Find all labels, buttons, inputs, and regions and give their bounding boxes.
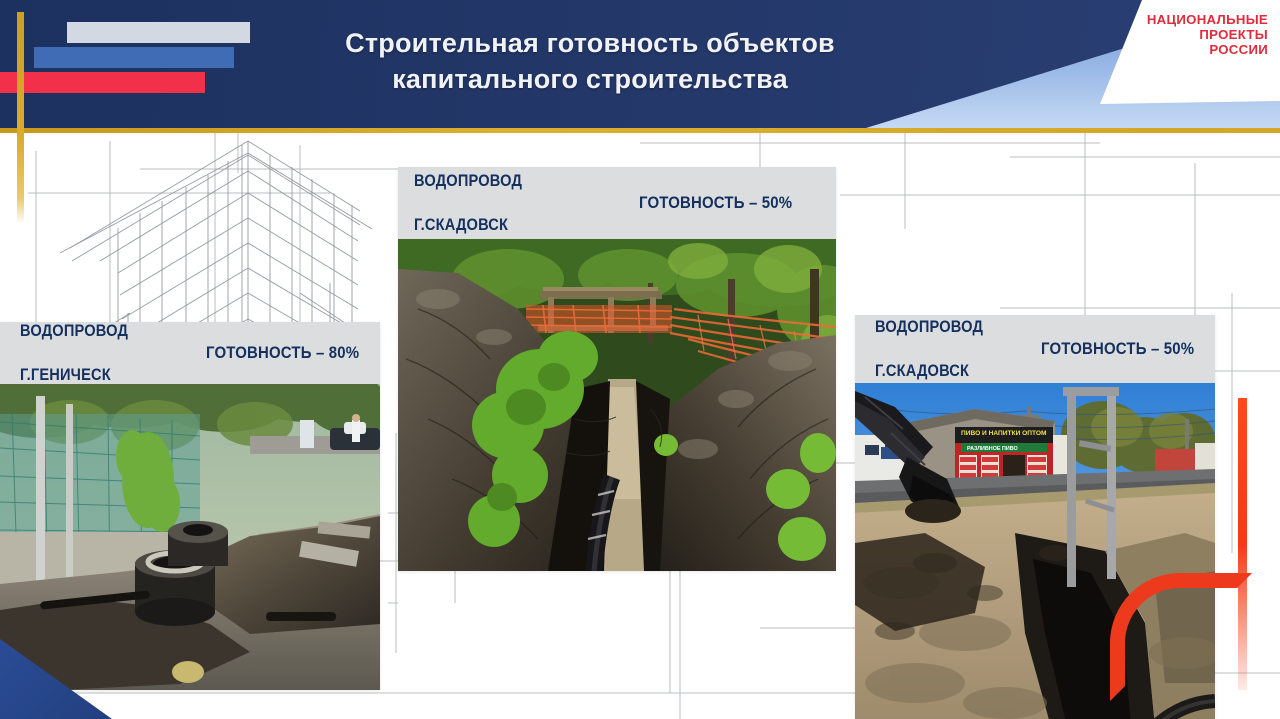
slide: Строительная готовность объектов капитал… — [0, 0, 1280, 719]
readiness-badge: ГОТОВНОСТЬ – 50% — [639, 193, 792, 213]
logo-text: НАЦИОНАЛЬНЫЕ ПРОЕКТЫ РОССИИ — [1147, 13, 1268, 57]
photo-genichesk-trench — [0, 384, 380, 690]
photo-card-skadovsk-trench: ВОДОПРОВОД Г.СКАДОВСК ГОТОВНОСТЬ – 50% — [398, 167, 836, 571]
flag-bar-red — [0, 72, 205, 93]
card-caption: ВОДОПРОВОД Г.СКАДОВСК ГОТОВНОСТЬ – 50% — [398, 167, 836, 239]
logo-text-line-1: НАЦИОНАЛЬНЫЕ — [1147, 13, 1268, 28]
readiness-badge: ГОТОВНОСТЬ – 50% — [1041, 339, 1194, 359]
card-object-line-2: Г.ГЕНИЧЕСК — [20, 364, 185, 386]
card-caption: ВОДОПРОВОД Г.СКАДОВСК ГОТОВНОСТЬ – 50% — [855, 315, 1215, 383]
photo-card-genichesk: ВОДОПРОВОД Г.ГЕНИЧЕСК ГОТОВНОСТЬ – 80% — [0, 322, 380, 690]
svg-text:РАЗЛИВНОЕ ПИВО: РАЗЛИВНОЕ ПИВО — [967, 446, 1018, 452]
flag-bar-blue — [34, 47, 234, 68]
logo-text-line-2: ПРОЕКТЫ — [1147, 28, 1268, 43]
gold-vertical-accent — [17, 12, 24, 224]
card-object-line-2: Г.СКАДОВСК — [414, 214, 616, 236]
svg-text:ПИВО И НАПИТКИ ОПТОМ: ПИВО И НАПИТКИ ОПТОМ — [961, 430, 1047, 437]
logo-text-line-3: РОССИИ — [1147, 43, 1268, 58]
national-projects-logo: НАЦИОНАЛЬНЫЕ ПРОЕКТЫ РОССИИ — [1098, 0, 1280, 133]
page-title-line-2: капитального строительства — [270, 62, 910, 98]
card-caption: ВОДОПРОВОД Г.ГЕНИЧЕСК ГОТОВНОСТЬ – 80% — [0, 322, 380, 384]
russian-flag-bars — [0, 22, 300, 94]
card-object-line-1: ВОДОПРОВОД — [20, 320, 185, 342]
page-title: Строительная готовность объектов капитал… — [270, 26, 910, 97]
card-object-line-2: Г.СКАДОВСК — [875, 360, 1024, 382]
construction-photo — [0, 384, 380, 690]
slide-header: Строительная готовность объектов капитал… — [0, 0, 1280, 133]
card-object-line-1: ВОДОПРОВОД — [875, 316, 1024, 338]
card-object-line-1: ВОДОПРОВОД — [414, 170, 616, 192]
page-title-line-1: Строительная готовность объектов — [270, 26, 910, 62]
corner-decoration-red-arc — [1110, 573, 1252, 701]
photo-skadovsk-trench — [398, 239, 836, 571]
construction-photo — [398, 239, 836, 571]
readiness-badge: ГОТОВНОСТЬ – 80% — [206, 343, 359, 363]
flag-bar-white — [67, 22, 250, 43]
